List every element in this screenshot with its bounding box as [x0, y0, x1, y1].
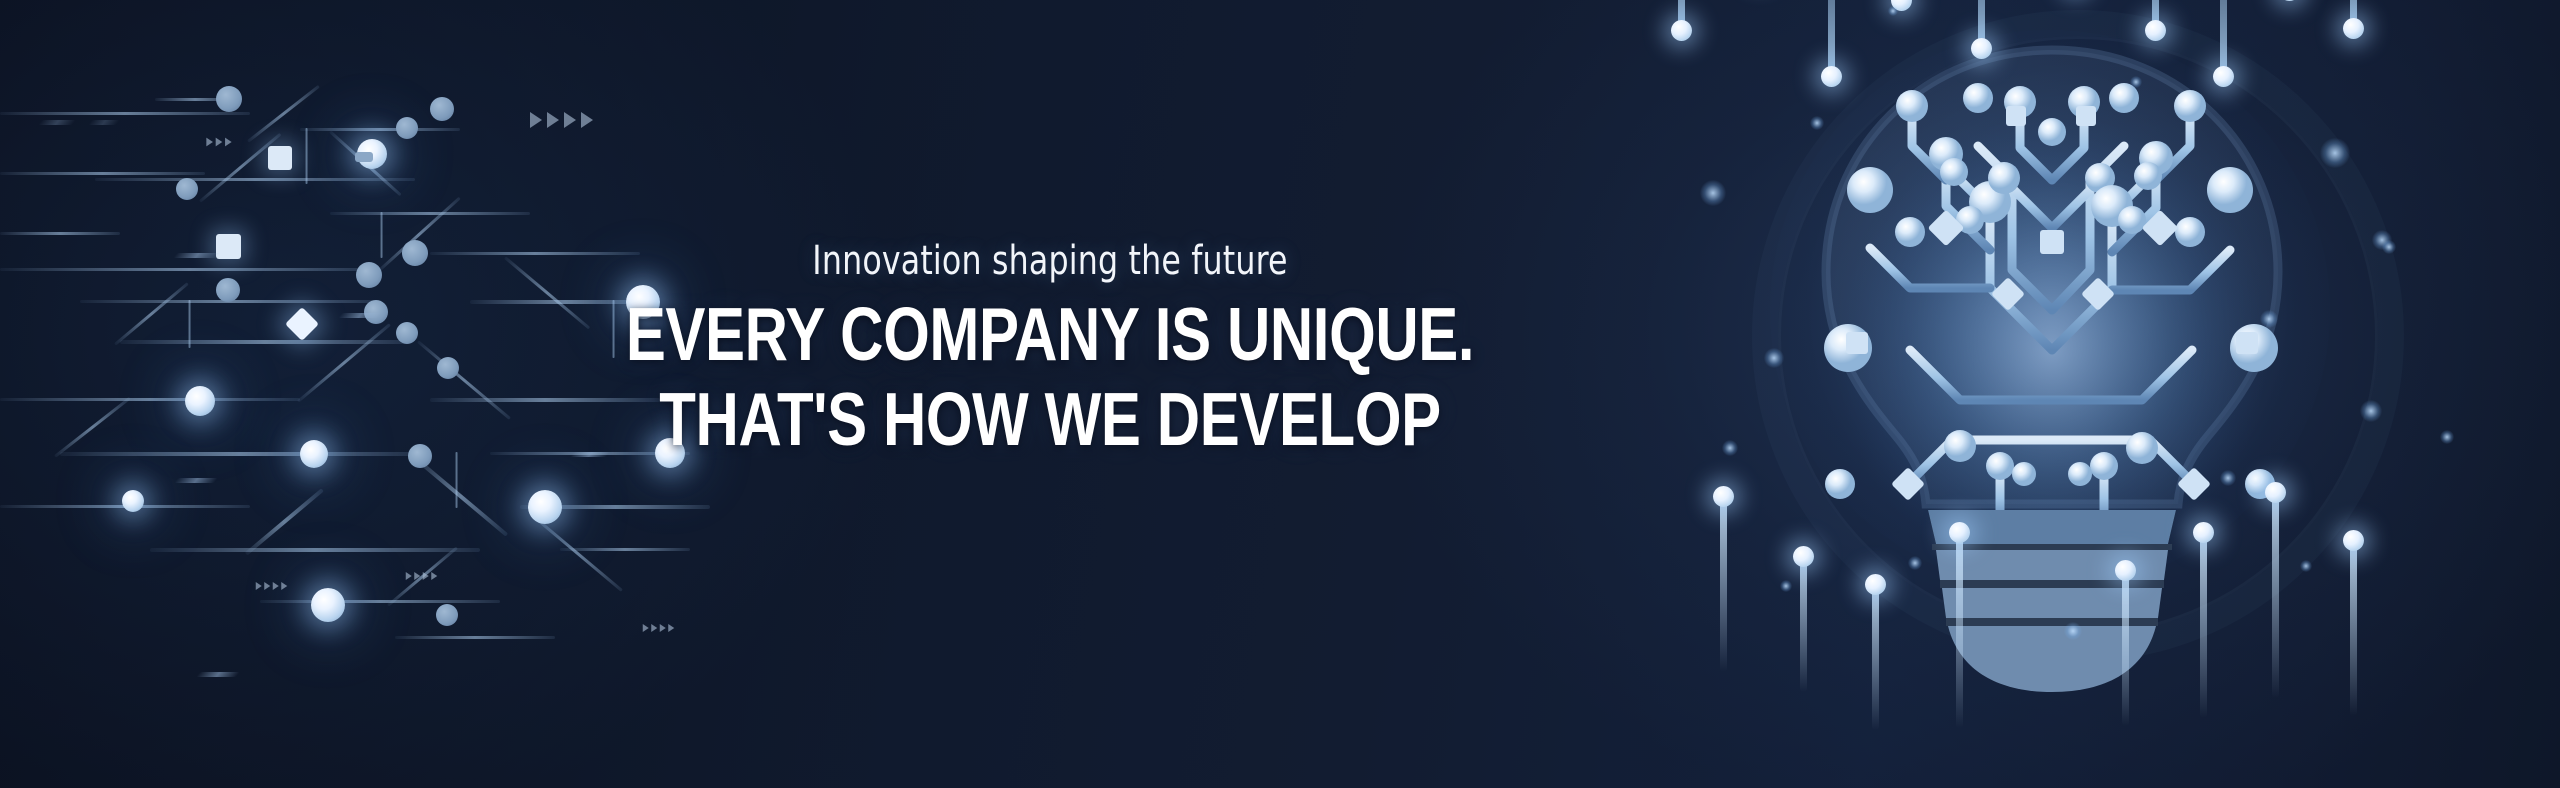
- circuit-tick: [338, 313, 382, 318]
- circuit-trace: [520, 505, 710, 509]
- circuit-trace: [120, 340, 410, 344]
- circuit-tick: [173, 253, 221, 258]
- circuit-trace: [60, 452, 420, 456]
- bokeh-particle: [2064, 622, 2082, 640]
- circuit-node: [364, 300, 388, 324]
- rain-trace: [2200, 528, 2207, 718]
- circuit-node: [122, 490, 144, 512]
- circuit-node: [300, 440, 328, 468]
- circuit-node: [396, 117, 418, 139]
- bokeh-particle: [2382, 240, 2396, 254]
- circuit-trace: [560, 548, 690, 551]
- bokeh-particle: [1780, 580, 1792, 592]
- bokeh-particle: [2260, 310, 2278, 328]
- circuit-trace: [300, 128, 460, 131]
- circuit-trace-diagonal: [414, 456, 508, 536]
- circuit-node: [356, 262, 382, 288]
- bokeh-particle: [2440, 430, 2454, 444]
- circuit-tick: [174, 478, 218, 483]
- circuit-node: [311, 588, 345, 622]
- circuit-tick: [88, 120, 120, 125]
- circuit-arrows-icon: [406, 572, 438, 580]
- circuit-node: [402, 240, 428, 266]
- circuit-trace-diagonal: [329, 130, 402, 196]
- circuit-trace: [330, 212, 530, 215]
- bokeh-particle: [2360, 400, 2382, 422]
- circuit-trace-diagonal: [297, 323, 391, 402]
- circuit-trace: [0, 232, 120, 235]
- bokeh-particle: [1722, 440, 1738, 456]
- circuit-trace-vertical: [380, 212, 383, 258]
- rain-trace: [1678, 0, 1685, 30]
- circuit-trace-diagonal: [529, 512, 623, 591]
- circuit-node: [396, 322, 418, 344]
- circuit-node: [216, 86, 242, 112]
- hero-subtitle: Innovation shaping the future: [540, 240, 1561, 282]
- circuit-node: [185, 386, 215, 416]
- circuit-trace: [0, 398, 300, 401]
- circuit-pad-square: [268, 146, 292, 170]
- circuit-arrows-icon: [530, 112, 593, 128]
- rain-trace: [1720, 492, 1727, 672]
- rain-trace: [1828, 0, 1835, 76]
- circuit-trace: [395, 636, 555, 639]
- bokeh-particle: [1700, 180, 1726, 206]
- circuit-arrows-icon: [256, 582, 288, 590]
- circuit-node: [437, 357, 459, 379]
- circuit-trace-vertical: [305, 128, 308, 184]
- circuit-tick: [38, 120, 76, 125]
- rain-trace: [1956, 528, 1963, 728]
- circuit-trace-vertical: [455, 452, 458, 508]
- bokeh-particle: [2220, 470, 2236, 486]
- circuit-node: [430, 97, 454, 121]
- rain-trace: [2220, 0, 2227, 76]
- circuit-trace-diagonal: [387, 547, 458, 607]
- lightbulb-circuit-tree-artwork: [1660, 0, 2420, 780]
- hero-headline-line1: EVERY COMPANY IS UNIQUE.: [586, 296, 1514, 373]
- circuit-pad-square: [216, 234, 241, 259]
- circuit-trace: [0, 172, 205, 175]
- bokeh-particle: [1764, 348, 1784, 368]
- circuit-trace: [260, 600, 500, 603]
- circuit-arrows-icon: [643, 624, 675, 632]
- circuit-trace-diagonal: [247, 85, 320, 143]
- circuit-trace-vertical: [188, 300, 191, 348]
- circuit-pad-diamond: [285, 307, 319, 341]
- rain-trace: [1978, 0, 1985, 48]
- circuit-trace: [0, 112, 250, 115]
- hero-headline-line2: THAT'S HOW WE DEVELOP: [586, 381, 1514, 458]
- rain-trace: [2272, 488, 2279, 698]
- circuit-tick: [196, 672, 240, 677]
- circuit-trace: [80, 300, 380, 303]
- rain-trace: [2152, 0, 2159, 30]
- rain-trace: [2350, 536, 2357, 716]
- rain-trace: [1872, 580, 1879, 730]
- circuit-trace-diagonal: [114, 282, 189, 345]
- circuit-pad-square: [355, 152, 373, 162]
- circuit-trace: [0, 268, 380, 271]
- circuit-trace: [95, 178, 415, 181]
- circuit-arrows-icon: [206, 138, 231, 147]
- bokeh-particle: [1810, 116, 1824, 130]
- circuit-node: [408, 444, 432, 468]
- circuit-trace-diagonal: [199, 133, 281, 203]
- circuit-trace-diagonal: [245, 488, 324, 555]
- circuit-trace: [150, 548, 480, 552]
- circuit-node: [176, 178, 198, 200]
- rain-trace: [2122, 566, 2129, 726]
- circuit-trace: [0, 505, 250, 508]
- bokeh-particle: [1908, 556, 1922, 570]
- hero-text-block: Innovation shaping the future EVERY COMP…: [470, 240, 1630, 457]
- circuit-trace-diagonal: [377, 197, 461, 273]
- circuit-node: [216, 278, 240, 302]
- hero-banner: Innovation shaping the future EVERY COMP…: [0, 0, 2560, 788]
- rain-trace: [2350, 0, 2357, 28]
- lightbulb-icon: [1660, 0, 2420, 780]
- bokeh-particle: [1888, 6, 1898, 16]
- bokeh-particle: [2320, 138, 2350, 168]
- circuit-node: [528, 490, 562, 524]
- circuit-node: [357, 139, 387, 169]
- circuit-trace: [155, 98, 235, 101]
- bokeh-particle: [2130, 76, 2142, 88]
- circuit-trace-diagonal: [54, 397, 131, 458]
- rain-trace: [1800, 552, 1807, 692]
- circuit-node: [436, 604, 458, 626]
